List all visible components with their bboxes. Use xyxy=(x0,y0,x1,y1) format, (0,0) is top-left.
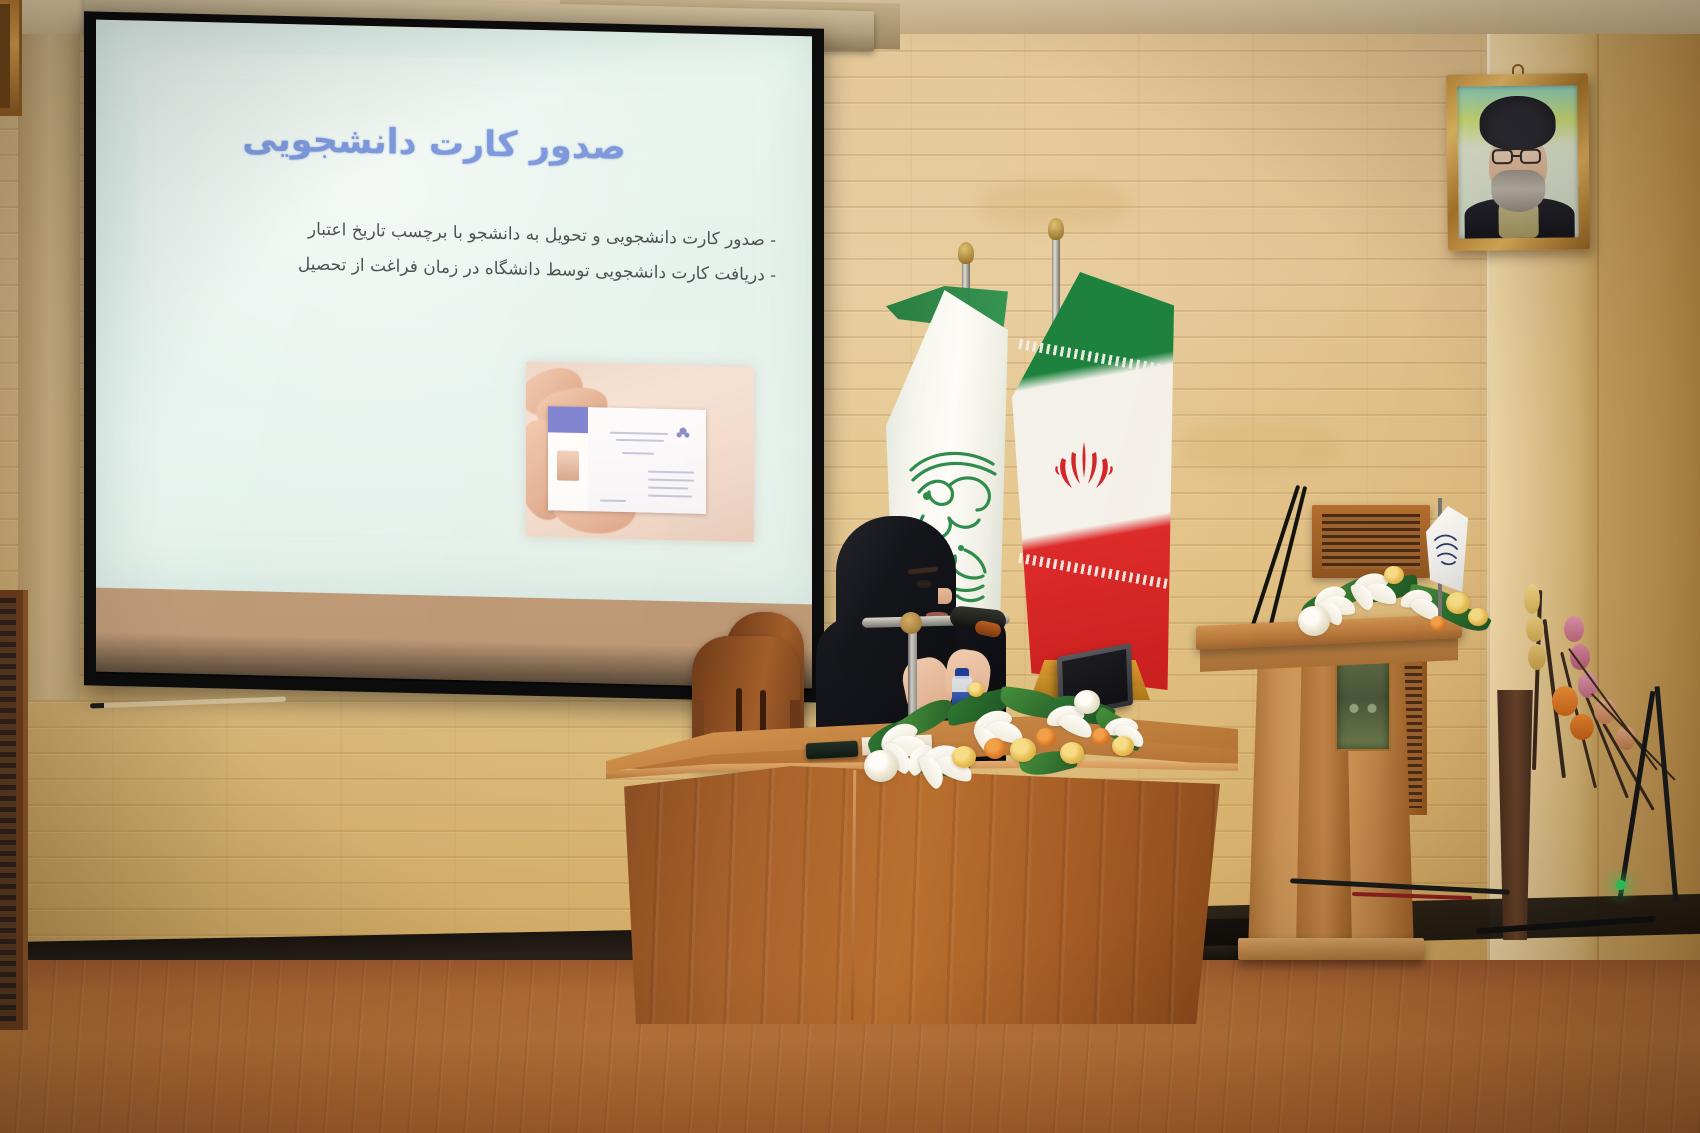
desk-floral-arrangement xyxy=(860,672,1150,794)
nose xyxy=(938,588,952,604)
lecture-hall-photo: صدور کارت دانشجویی - صدور کارت دانشجویی … xyxy=(0,0,1700,1133)
slide-title: صدور کارت دانشجویی xyxy=(96,116,772,172)
microphone-joint xyxy=(900,612,922,634)
projected-slide: صدور کارت دانشجویی - صدور کارت دانشجویی … xyxy=(96,20,812,605)
slide-bullets: - صدور کارت دانشجویی و تحویل به دانشجو ب… xyxy=(136,209,776,294)
acoustic-panel-foam xyxy=(0,598,16,1022)
card-emblem xyxy=(670,419,696,446)
eye xyxy=(916,580,932,588)
student-id-card xyxy=(548,406,706,514)
portrait-glasses-bridge xyxy=(1513,155,1520,157)
projection-screen-surface: صدور کارت دانشجویی - صدور کارت دانشجویی … xyxy=(96,20,812,689)
lectern-tile-motif xyxy=(1348,690,1378,736)
portrait-turban xyxy=(1479,96,1556,151)
mobile-phone[interactable] xyxy=(806,741,859,760)
desk-flag-script-icon xyxy=(1432,528,1462,568)
flagpole-finial xyxy=(958,242,974,264)
flagpole-finial xyxy=(1048,218,1064,240)
card-portrait xyxy=(557,450,579,481)
dried-flower-arrangement xyxy=(1466,560,1686,820)
desk-wood-grain xyxy=(624,766,1220,1024)
wall-return xyxy=(1599,0,1700,1010)
green-status-led xyxy=(1616,880,1626,890)
wall-frame-sliver-inner xyxy=(0,4,10,108)
lectern-base xyxy=(1238,938,1424,960)
wall-blotch xyxy=(1180,420,1340,474)
air-vent-slats xyxy=(1322,514,1420,569)
portrait-glasses-right xyxy=(1520,149,1541,164)
iran-emblem-icon xyxy=(1052,438,1116,498)
card-header-band xyxy=(548,406,588,433)
slide-photo-id-card xyxy=(526,362,754,542)
portrait-image xyxy=(1457,85,1579,238)
portrait-glasses-left xyxy=(1492,149,1513,164)
